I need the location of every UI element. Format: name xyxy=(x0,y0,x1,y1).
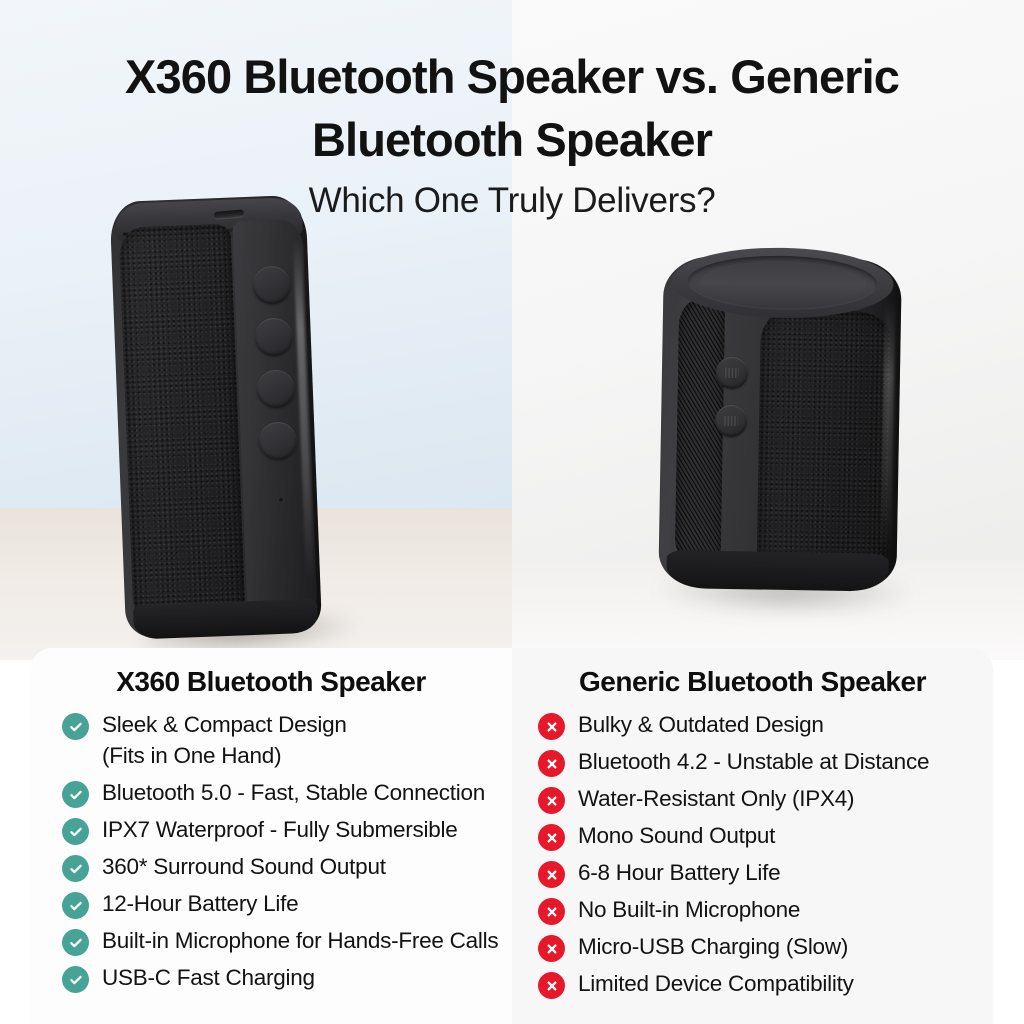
generic-speaker-image xyxy=(652,246,926,611)
list-item: Mono Sound Output xyxy=(512,820,993,851)
speaker-button-volume-down-icon xyxy=(256,369,295,408)
check-circle-icon xyxy=(62,892,89,919)
list-item: No Built-in Microphone xyxy=(512,894,993,925)
list-item-label: Bulky & Outdated Design xyxy=(578,709,824,740)
list-item-label: 12-Hour Battery Life xyxy=(102,888,298,919)
comparison-card-x360: X360 Bluetooth Speaker Sleek & Compact D… xyxy=(30,648,512,1024)
page-title-line-2: Bluetooth Speaker xyxy=(312,113,712,166)
page-title-line-1: X360 Bluetooth Speaker vs. Generic xyxy=(125,50,899,103)
check-circle-icon xyxy=(62,966,89,993)
page-subtitle: Which One Truly Delivers? xyxy=(0,180,1024,222)
list-item: Built-in Microphone for Hands-Free Calls xyxy=(30,925,512,956)
cross-circle-icon xyxy=(538,713,565,740)
speaker-microphone-pinhole-icon xyxy=(279,498,283,502)
speaker-button-power-icon xyxy=(252,265,291,304)
speaker-base xyxy=(133,599,318,640)
speaker-side-mesh xyxy=(675,298,726,565)
list-item-label: USB-C Fast Charging xyxy=(102,962,315,993)
list-item: IPX7 Waterproof - Fully Submersible xyxy=(30,814,512,845)
list-item: 360* Surround Sound Output xyxy=(30,851,512,882)
comparison-card-generic: Generic Bluetooth Speaker Bulky & Outdat… xyxy=(512,648,993,1024)
list-item: 6-8 Hour Battery Life xyxy=(512,857,993,888)
list-item-label: Bluetooth 5.0 - Fast, Stable Connection xyxy=(102,777,485,808)
list-item: Sleek & Compact Design (Fits in One Hand… xyxy=(30,709,512,771)
cross-circle-icon xyxy=(538,824,565,851)
check-circle-icon xyxy=(62,929,89,956)
check-circle-icon xyxy=(62,818,89,845)
list-item-label: IPX7 Waterproof - Fully Submersible xyxy=(102,814,458,845)
list-item: Water-Resistant Only (IPX4) xyxy=(512,783,993,814)
comparison-infographic: X360 Bluetooth Speaker vs. Generic Bluet… xyxy=(0,0,1024,1024)
list-item: Micro-USB Charging (Slow) xyxy=(512,931,993,962)
list-item: Bulky & Outdated Design xyxy=(512,709,993,740)
speaker-front-panel xyxy=(756,309,893,577)
speaker-base xyxy=(666,550,889,592)
list-item-label: Water-Resistant Only (IPX4) xyxy=(578,783,854,814)
feature-list-generic: Bulky & Outdated Design Bluetooth 4.2 - … xyxy=(512,709,993,999)
list-item: USB-C Fast Charging xyxy=(30,962,512,993)
list-item-label: Limited Device Compatibility xyxy=(578,968,854,999)
list-item-label: Built-in Microphone for Hands-Free Calls xyxy=(102,925,498,956)
x360-speaker-image xyxy=(109,194,338,650)
cross-circle-icon xyxy=(538,935,565,962)
list-item: Limited Device Compatibility xyxy=(512,968,993,999)
cross-circle-icon xyxy=(538,898,565,925)
cross-circle-icon xyxy=(538,787,565,814)
feature-list-x360: Sleek & Compact Design (Fits in One Hand… xyxy=(30,709,512,993)
comparison-cards: X360 Bluetooth Speaker Sleek & Compact D… xyxy=(0,648,1024,1024)
list-item-label: 6-8 Hour Battery Life xyxy=(578,857,780,888)
list-item-label: Mono Sound Output xyxy=(578,820,775,851)
list-item-label: Sleek & Compact Design (Fits in One Hand… xyxy=(102,709,347,771)
speaker-button-volume-up-icon xyxy=(258,421,297,460)
cross-circle-icon xyxy=(538,972,565,999)
card-title-generic: Generic Bluetooth Speaker xyxy=(512,666,993,698)
list-item: 12-Hour Battery Life xyxy=(30,888,512,919)
cross-circle-icon xyxy=(538,750,565,777)
list-item-label: No Built-in Microphone xyxy=(578,894,800,925)
check-circle-icon xyxy=(62,855,89,882)
list-item-text: Sleek & Compact Design xyxy=(102,712,347,737)
card-title-x360: X360 Bluetooth Speaker xyxy=(30,666,512,698)
list-item-subtext: (Fits in One Hand) xyxy=(102,740,347,771)
cross-circle-icon xyxy=(538,861,565,888)
check-circle-icon xyxy=(62,781,89,808)
list-item-label: Bluetooth 4.2 - Unstable at Distance xyxy=(578,746,929,777)
speaker-button-bluetooth-icon xyxy=(254,317,293,356)
check-circle-icon xyxy=(62,713,89,740)
list-item-label: Micro-USB Charging (Slow) xyxy=(578,931,848,962)
page-title: X360 Bluetooth Speaker vs. Generic Bluet… xyxy=(0,46,1024,171)
speaker-mesh-grille xyxy=(118,224,245,624)
list-item: Bluetooth 5.0 - Fast, Stable Connection xyxy=(30,777,512,808)
list-item-label: 360* Surround Sound Output xyxy=(102,851,386,882)
list-item: Bluetooth 4.2 - Unstable at Distance xyxy=(512,746,993,777)
